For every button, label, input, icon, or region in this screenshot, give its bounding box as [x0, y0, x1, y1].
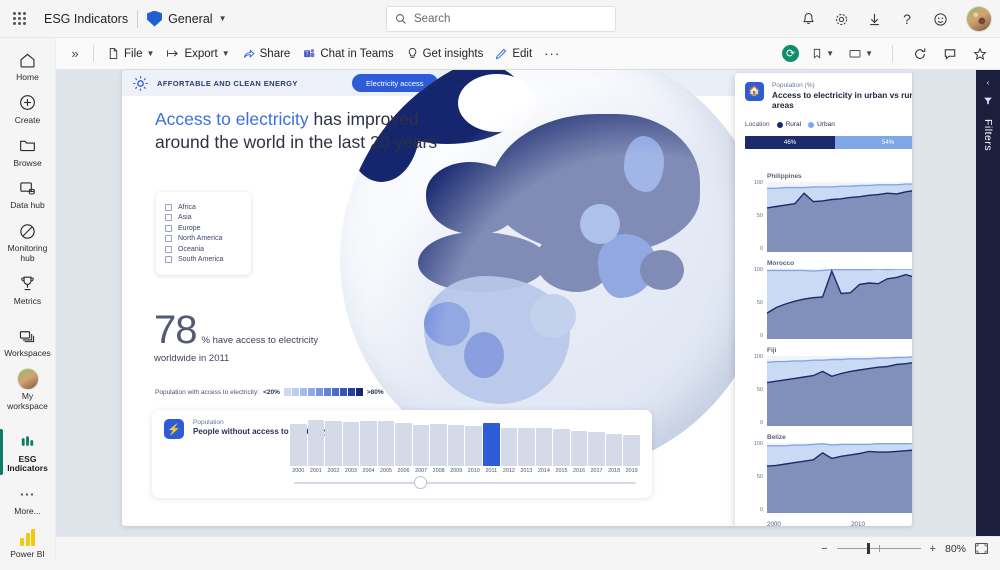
- bar-2001[interactable]: [308, 420, 325, 466]
- bar-2000[interactable]: [290, 424, 307, 466]
- insights-label: Get insights: [423, 48, 484, 60]
- sidebar-item-monitoring-hub[interactable]: Monitoring hub: [0, 215, 56, 268]
- bar-2016[interactable]: [571, 431, 588, 466]
- sidebar-item-label: ESG Indicators: [2, 455, 54, 475]
- stack-segment-urban: 54%: [835, 136, 912, 149]
- year-label-2001: 2001: [308, 468, 325, 474]
- x-axis: 200020102020: [767, 521, 912, 526]
- zoom-out-button[interactable]: −: [821, 543, 827, 555]
- export-label: Export: [184, 48, 217, 60]
- y-tick-100: 100: [741, 180, 763, 186]
- y-tick-0: 0: [741, 246, 763, 252]
- kpi-statistic: 78 % have access to electricity worldwid…: [154, 312, 454, 364]
- more-options-button[interactable]: ···: [538, 42, 566, 65]
- chevron-down-icon[interactable]: ▼: [219, 14, 227, 23]
- help-icon[interactable]: ?: [897, 9, 917, 29]
- continent-label: Africa: [178, 204, 196, 211]
- map-region-horn-of-africa: [530, 294, 576, 338]
- plot-area: [767, 443, 912, 513]
- sidebar-item-label: Browse: [13, 159, 41, 169]
- notifications-bell-icon[interactable]: [798, 9, 818, 29]
- legend-item-urban[interactable]: Urban: [808, 121, 835, 128]
- sidebar-item-esg-indicators[interactable]: ESG Indicators: [0, 426, 56, 479]
- sidebar-item-label: Home: [16, 73, 39, 83]
- year-label-2013: 2013: [518, 468, 535, 474]
- bar-chart-icon: [17, 431, 39, 453]
- get-insights-button[interactable]: Get insights: [400, 43, 490, 64]
- bar-2002[interactable]: [325, 421, 342, 466]
- checkbox-south-america[interactable]: South America: [165, 256, 242, 263]
- panel-title: Access to electricity in urban vs rural …: [772, 90, 912, 110]
- country-name-label: Belize: [767, 434, 786, 441]
- bar-2019[interactable]: [623, 435, 640, 466]
- power-bi-logo-icon: [17, 526, 39, 548]
- home-icon: [17, 49, 39, 71]
- year-slider-track[interactable]: [294, 482, 636, 484]
- map-region-europe: [426, 162, 521, 234]
- copilot-icon[interactable]: ⟳: [782, 45, 799, 62]
- sidebar-item-home[interactable]: Home: [0, 44, 56, 87]
- sidebar-item-label: Monitoring hub: [2, 244, 54, 264]
- filters-panel[interactable]: ‹ Filters: [976, 70, 1000, 536]
- population-without-electricity-card[interactable]: ⚡ Population People without access to el…: [152, 410, 652, 498]
- team-selector[interactable]: General ▼: [147, 11, 226, 27]
- sidebar-item-metrics[interactable]: Metrics: [0, 268, 56, 311]
- year-label-2019: 2019: [623, 468, 640, 474]
- small-chart-fiji[interactable]: Fiji100500: [735, 347, 912, 433]
- plot-area: [767, 356, 912, 426]
- panel-header: 🏠 Population (%) Access to electricity i…: [735, 73, 912, 114]
- y-tick-0: 0: [741, 333, 763, 339]
- year-label-2008: 2008: [430, 468, 447, 474]
- chat-in-teams-button[interactable]: T Chat in Teams: [296, 43, 399, 64]
- topbar-divider: [137, 10, 138, 28]
- bar-2005[interactable]: [378, 421, 395, 466]
- scale-swatches: [284, 388, 363, 396]
- y-tick-50: 50: [741, 387, 763, 393]
- teams-icon: T: [302, 47, 316, 60]
- edit-button[interactable]: Edit: [489, 43, 538, 64]
- filters-title: Filters: [982, 119, 994, 151]
- year-label-2010: 2010: [465, 468, 482, 474]
- map-region-middle-east: [536, 230, 612, 292]
- year-label-2011: 2011: [483, 468, 500, 474]
- chevron-down-icon[interactable]: ▼: [147, 49, 155, 58]
- share-button[interactable]: Share: [236, 43, 297, 64]
- user-avatar[interactable]: [966, 6, 992, 32]
- y-tick-100: 100: [741, 267, 763, 273]
- chevron-down-icon[interactable]: ▼: [865, 49, 873, 58]
- year-slider-handle[interactable]: [414, 476, 427, 489]
- year-label-2012: 2012: [501, 468, 518, 474]
- file-button[interactable]: File ▼: [101, 43, 160, 64]
- checkbox-icon[interactable]: [165, 214, 172, 221]
- x-tick-2000: 2000: [767, 521, 781, 526]
- checkbox-icon[interactable]: [165, 256, 172, 263]
- small-chart-belize[interactable]: Belize100500: [735, 434, 912, 520]
- legend-item-rural[interactable]: Rural: [777, 121, 802, 128]
- continent-label: South America: [178, 256, 224, 263]
- sidebar-item-label: Data hub: [10, 201, 45, 211]
- zoom-slider-handle[interactable]: [867, 543, 870, 554]
- ellipsis-icon: ⋯: [17, 483, 39, 505]
- workspaces-icon: [17, 325, 39, 347]
- year-label-2014: 2014: [536, 468, 553, 474]
- scale-high-label: >80%: [367, 389, 384, 396]
- y-tick-0: 0: [741, 507, 763, 513]
- report-page: AFFORTABLE AND CLEAN ENERGY Electricity …: [122, 70, 912, 526]
- continent-label: Asia: [178, 214, 192, 221]
- kpi-subtext: worldwide in 2011: [154, 353, 454, 364]
- bookmark-button[interactable]: ▼: [809, 45, 836, 62]
- team-name-label: General: [168, 12, 212, 26]
- map-region-north-africa: [418, 232, 548, 292]
- scale-low-label: <20%: [263, 389, 280, 396]
- lightning-bolt-icon: ⚡: [164, 419, 184, 439]
- export-icon: [166, 47, 180, 60]
- y-tick-100: 100: [741, 441, 763, 447]
- sidebar-item-my-workspace[interactable]: My workspace: [0, 363, 56, 416]
- sidebar-item-data-hub[interactable]: Data hub: [0, 172, 56, 215]
- map-region-greenland: [458, 74, 536, 132]
- location-label: Location: [745, 121, 770, 128]
- chat-label: Chat in Teams: [320, 48, 393, 60]
- map-region-southeast-asia: [640, 250, 684, 290]
- shield-icon: [147, 11, 162, 27]
- search-container[interactable]: Search: [386, 6, 616, 32]
- bar-2004[interactable]: [360, 421, 377, 466]
- file-icon: [107, 47, 120, 60]
- checkbox-europe[interactable]: Europe: [165, 225, 242, 232]
- continent-label: Europe: [178, 225, 201, 232]
- home-icon: 🏠: [745, 82, 764, 101]
- bar-2010[interactable]: [465, 426, 482, 466]
- bar-2008[interactable]: [430, 424, 447, 466]
- bar-2009[interactable]: [448, 425, 465, 466]
- left-navigation: Home Create Browse Data hub Monitoring h…: [0, 38, 56, 560]
- year-label-2016: 2016: [571, 468, 588, 474]
- year-label-2017: 2017: [588, 468, 605, 474]
- sidebar-item-label: More...: [14, 507, 40, 517]
- country-small-multiples[interactable]: Philippines100500Morocco100500Fiji100500…: [735, 173, 912, 526]
- expand-nav-button[interactable]: »: [64, 46, 86, 61]
- status-bar: − + 80%: [56, 536, 1000, 560]
- app-launcher-waffle-icon[interactable]: [0, 12, 38, 25]
- year-label-2003: 2003: [343, 468, 360, 474]
- year-label-2002: 2002: [325, 468, 342, 474]
- small-chart-morocco[interactable]: Morocco100500: [735, 260, 912, 346]
- checkbox-icon[interactable]: [165, 204, 172, 211]
- refresh-icon[interactable]: [910, 44, 930, 64]
- map-region-siberia-north: [624, 136, 664, 192]
- share-label: Share: [260, 48, 291, 60]
- plus-circle-icon: [17, 92, 39, 114]
- bar-2018[interactable]: [606, 434, 623, 466]
- year-label-2004: 2004: [360, 468, 377, 474]
- page-title: Access to electricity has improved aroun…: [155, 108, 445, 155]
- bar-2017[interactable]: [588, 432, 605, 466]
- view-button[interactable]: ▼: [846, 45, 875, 62]
- favorite-star-icon[interactable]: [970, 44, 990, 64]
- kpi-value: 78: [154, 312, 197, 348]
- country-name-label: Fiji: [767, 347, 776, 354]
- bookmark-icon: [811, 47, 823, 60]
- panel-subtitle: Population (%): [772, 82, 912, 89]
- report-toolbar: » File ▼ Export ▼ Share T Chat in Teams …: [56, 38, 1000, 70]
- map-color-scale-legend: Population with access to electricity: <…: [155, 388, 384, 396]
- chevron-down-icon[interactable]: ▼: [222, 49, 230, 58]
- edit-label: Edit: [512, 48, 532, 60]
- topbar-icons: ?: [798, 0, 992, 38]
- y-tick-50: 50: [741, 474, 763, 480]
- location-legend: Location Rural Urban: [735, 114, 912, 131]
- powerbi-label: Power BI: [10, 550, 45, 560]
- export-button[interactable]: Export ▼: [160, 43, 235, 64]
- comment-icon[interactable]: [940, 44, 960, 64]
- filter-icon: [983, 96, 993, 108]
- sidebar-item-label: Create: [15, 116, 41, 126]
- sun-energy-icon: [132, 75, 149, 92]
- year-label-2015: 2015: [553, 468, 570, 474]
- year-label-2005: 2005: [378, 468, 395, 474]
- search-input[interactable]: Search: [386, 6, 616, 32]
- checkbox-africa[interactable]: Africa: [165, 204, 242, 211]
- bar-2003[interactable]: [343, 422, 360, 466]
- lightbulb-icon: [406, 47, 419, 60]
- monitoring-hub-icon: [17, 220, 39, 242]
- bar-2015[interactable]: [553, 429, 570, 466]
- year-bar-chart[interactable]: [290, 420, 640, 466]
- checkbox-icon[interactable]: [165, 235, 172, 242]
- trophy-icon: [17, 273, 39, 295]
- view-icon: [848, 47, 862, 60]
- top-bar: ESG Indicators General ▼ Search ?: [0, 0, 1000, 38]
- year-label-2000: 2000: [290, 468, 307, 474]
- small-chart-philippines[interactable]: Philippines100500: [735, 173, 912, 259]
- checkbox-north-america[interactable]: North America: [165, 235, 242, 242]
- toolbar-right-icons: ⟳ ▼ ▼: [782, 44, 990, 64]
- checkbox-icon[interactable]: [165, 225, 172, 232]
- toolbar-divider-2: [892, 45, 893, 62]
- report-canvas: AFFORTABLE AND CLEAN ENERGY Electricity …: [56, 70, 976, 536]
- y-tick-50: 50: [741, 213, 763, 219]
- y-tick-0: 0: [741, 420, 763, 426]
- kpi-unit-text: % have access to electricity: [202, 335, 319, 346]
- sidebar-item-browse[interactable]: Browse: [0, 130, 56, 173]
- plot-area: [767, 269, 912, 339]
- year-label-2018: 2018: [606, 468, 623, 474]
- urban-rural-panel[interactable]: 🏠 Population (%) Access to electricity i…: [735, 73, 912, 526]
- map-region-central-asia: [580, 204, 620, 244]
- continent-label: North America: [178, 235, 222, 242]
- zoom-level-label: 80%: [945, 543, 966, 555]
- powerbi-footer-logo[interactable]: Power BI: [0, 521, 56, 570]
- sidebar-item-label: My workspace: [2, 392, 54, 412]
- bar-2012[interactable]: [501, 428, 518, 466]
- settings-gear-icon[interactable]: [831, 9, 851, 29]
- legend-dot-urban: [808, 122, 814, 128]
- collapse-filters-chevron-icon[interactable]: ‹: [987, 78, 990, 87]
- app-title: ESG Indicators: [44, 12, 128, 26]
- stack-segment-rural: 46%: [745, 136, 835, 149]
- share-icon: [242, 47, 256, 60]
- chevron-down-icon[interactable]: ▼: [826, 49, 834, 58]
- legend-label-urban: Urban: [817, 121, 835, 128]
- sidebar-item-create[interactable]: Create: [0, 87, 56, 130]
- checkbox-oceania[interactable]: Oceania: [165, 246, 242, 253]
- y-tick-100: 100: [741, 354, 763, 360]
- continent-label: Oceania: [178, 246, 204, 253]
- bar-2006[interactable]: [395, 423, 412, 466]
- legend-dot-rural: [777, 122, 783, 128]
- download-icon[interactable]: [864, 9, 884, 29]
- bar-2007[interactable]: [413, 425, 430, 466]
- continent-filter-card[interactable]: Africa Asia Europe North America Oceania…: [156, 192, 251, 275]
- bar-2014[interactable]: [536, 428, 553, 466]
- search-placeholder: Search: [414, 13, 450, 25]
- zoom-slider[interactable]: [837, 548, 921, 549]
- country-name-label: Morocco: [767, 260, 794, 267]
- headline-highlight: Access to electricity: [155, 109, 309, 129]
- pencil-icon: [495, 47, 508, 60]
- folder-icon: [17, 135, 39, 157]
- zoom-in-button[interactable]: +: [930, 543, 936, 555]
- country-name-label: Philippines: [767, 173, 802, 180]
- sidebar-item-label: Workspaces: [4, 349, 51, 359]
- x-tick-2010: 2010: [851, 521, 865, 526]
- sidebar-item-label: Metrics: [14, 297, 41, 307]
- year-label-2006: 2006: [395, 468, 412, 474]
- fit-to-page-icon[interactable]: [975, 543, 988, 554]
- sdg-goal-label: AFFORTABLE AND CLEAN ENERGY: [157, 79, 298, 88]
- search-icon: [395, 13, 407, 25]
- bar-2013[interactable]: [518, 428, 535, 466]
- y-tick-50: 50: [741, 300, 763, 306]
- avatar-icon: [17, 368, 39, 390]
- zoom-slider-tick: [879, 545, 880, 552]
- urban-rural-stacked-bar[interactable]: 46% 54%: [745, 136, 912, 149]
- bar-2011[interactable]: [483, 423, 500, 466]
- file-label: File: [124, 48, 143, 60]
- data-hub-icon: [17, 177, 39, 199]
- checkbox-asia[interactable]: Asia: [165, 214, 242, 221]
- legend-label-rural: Rural: [786, 121, 802, 128]
- map-region-india: [598, 234, 656, 298]
- feedback-smiley-icon[interactable]: [930, 9, 950, 29]
- sidebar-item-workspaces[interactable]: Workspaces: [0, 320, 56, 363]
- map-region-central-africa-low: [464, 332, 504, 378]
- map-region-eurasia: [490, 114, 700, 254]
- plot-area: [767, 182, 912, 252]
- year-axis-labels: 2000200120022003200420052006200720082009…: [290, 468, 640, 474]
- more-ellipsis-icon: ···: [544, 46, 560, 61]
- toolbar-divider: [93, 45, 94, 62]
- year-label-2009: 2009: [448, 468, 465, 474]
- scale-label: Population with access to electricity:: [155, 389, 259, 396]
- year-label-2007: 2007: [413, 468, 430, 474]
- checkbox-icon[interactable]: [165, 246, 172, 253]
- sidebar-item-more[interactable]: ⋯ More...: [0, 478, 56, 521]
